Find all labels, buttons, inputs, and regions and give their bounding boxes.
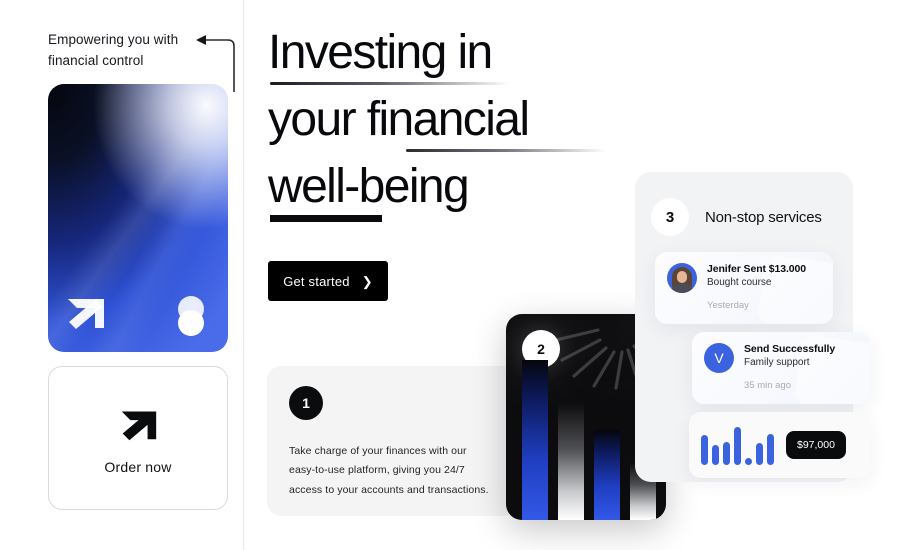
headline-line-2: your financial <box>268 93 668 147</box>
landing-page: Empowering you with financial control Or… <box>0 0 900 550</box>
headline-line-1: Investing in <box>268 26 668 80</box>
amount-badge: $97,000 <box>786 431 846 459</box>
order-now-card[interactable]: Order now <box>48 366 228 510</box>
headline-line-3: well-being <box>268 160 668 214</box>
bar <box>594 430 620 520</box>
step-3-header: 3 Non-stop services <box>651 198 822 236</box>
bar <box>522 360 548 520</box>
step-3-badge: 3 <box>651 198 689 236</box>
notification-item[interactable]: Jenifer Sent $13.000 Bought course Yeste… <box>655 252 833 324</box>
notification-subtitle: Family support <box>744 357 835 368</box>
user-photo-avatar <box>667 263 697 293</box>
notification-title: Send Successfully <box>744 343 835 355</box>
step-1-badge: 1 <box>289 386 323 420</box>
bar <box>767 434 774 465</box>
step-3-title: Non-stop services <box>705 209 822 226</box>
check-badge-icon: V <box>704 343 734 373</box>
notification-subtitle: Bought course <box>707 277 806 288</box>
notification-time: Yesterday <box>655 293 833 311</box>
brand-arrow-logo-icon <box>62 288 108 334</box>
get-started-button[interactable]: Get started ❯ <box>268 261 388 301</box>
bar <box>712 445 719 465</box>
bar <box>734 427 741 465</box>
headline-underline-1 <box>270 82 510 85</box>
notification-title: Jenifer Sent $13.000 <box>707 263 806 275</box>
bar <box>745 458 752 465</box>
bar <box>756 443 763 465</box>
chevron-right-icon: ❯ <box>362 275 373 288</box>
bar <box>558 402 584 520</box>
notification-item[interactable]: V Send Successfully Family support 35 mi… <box>692 332 870 404</box>
dual-circle-mark-icon <box>174 296 214 336</box>
order-now-label: Order now <box>104 459 171 475</box>
bar <box>723 442 730 465</box>
page-title: Investing in your financial well-being <box>268 26 668 230</box>
step-1-body: Take charge of your finances with our ea… <box>289 442 495 500</box>
vertical-divider <box>243 0 244 550</box>
step-card-1: 1 Take charge of your finances with our … <box>267 366 517 516</box>
headline-underline-2 <box>406 149 606 152</box>
bar <box>701 435 708 465</box>
kicker-text: Empowering you with financial control <box>48 30 198 72</box>
headline-underline-3 <box>270 215 382 222</box>
bar-chart <box>701 425 774 465</box>
get-started-label: Get started <box>283 274 350 289</box>
brand-arrow-logo-icon <box>116 401 160 445</box>
balance-chart-card[interactable]: $97,000 <box>689 412 871 478</box>
notification-time: 35 min ago <box>692 373 870 391</box>
credit-card-visual <box>48 84 228 352</box>
